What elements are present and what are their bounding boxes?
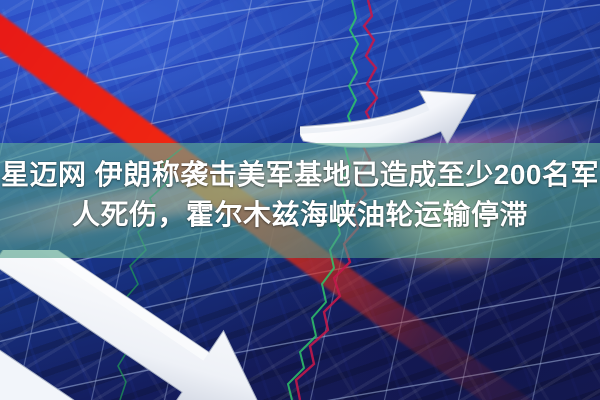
arrow-down-right-icon-secondary	[0, 330, 190, 400]
news-thumbnail-image: 星迈网 伊朗称袭击美军基地已造成至少200名军 人死伤，霍尔木兹海峡油轮运输停滞	[0, 0, 600, 400]
curved-arrow-right-icon	[300, 28, 550, 153]
headline-line-2: 人死伤，霍尔木兹海峡油轮运输停滞	[0, 195, 600, 235]
headline-line-1: 星迈网 伊朗称袭击美军基地已造成至少200名军	[0, 155, 600, 195]
headline-text: 星迈网 伊朗称袭击美军基地已造成至少200名军 人死伤，霍尔木兹海峡油轮运输停滞	[0, 155, 600, 235]
